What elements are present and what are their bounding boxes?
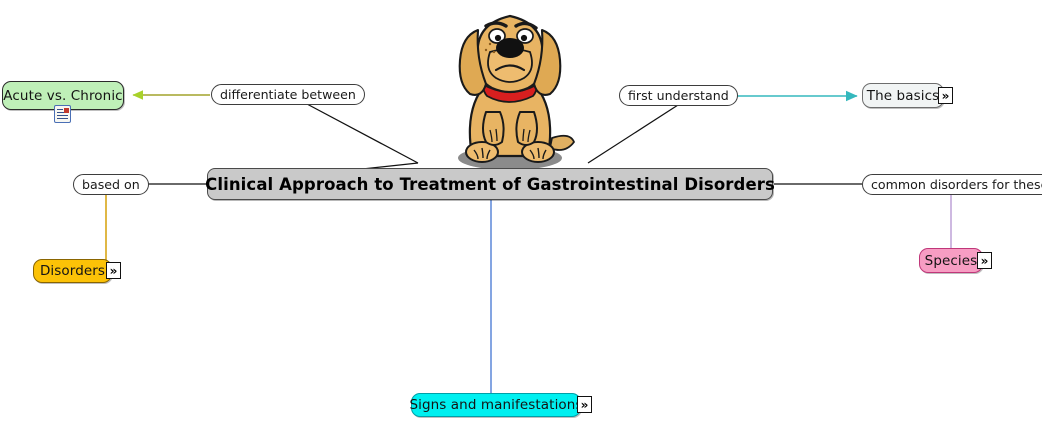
mindmap-canvas: Clinical Approach to Treatment of Gastro… (0, 0, 1042, 422)
edge-label-based-on[interactable]: based on (73, 174, 149, 195)
chevron-double-right-icon: » (981, 255, 989, 267)
edge-label-differentiate-between[interactable]: differentiate between (211, 84, 365, 105)
node-signs-and-manifestations[interactable]: Signs and manifestations (411, 393, 581, 417)
edge-label-text: based on (82, 177, 140, 192)
root-node-label: Clinical Approach to Treatment of Gastro… (205, 175, 775, 194)
edge-root-to-first-understand (588, 105, 678, 163)
node-the-basics-label: The basics (867, 88, 939, 104)
node-disorders-label: Disorders (40, 263, 105, 279)
edge-label-common-disorders-for-these[interactable]: common disorders for these (862, 174, 1042, 195)
node-disorders[interactable]: Disorders (33, 259, 112, 283)
edge-label-first-understand[interactable]: first understand (619, 85, 738, 106)
root-node[interactable]: Clinical Approach to Treatment of Gastro… (207, 168, 773, 200)
node-signs-and-manifestations-label: Signs and manifestations (409, 397, 582, 413)
expander-disorders[interactable]: » (106, 262, 121, 279)
expander-the-basics[interactable]: » (938, 87, 953, 104)
node-species-label: Species (925, 253, 978, 269)
edge-label-text: first understand (628, 88, 729, 103)
expander-signs-and-manifestations[interactable]: » (577, 396, 592, 413)
edge-label-text: common disorders for these (871, 177, 1042, 192)
chevron-double-right-icon: » (942, 90, 950, 102)
expander-species[interactable]: » (977, 252, 992, 269)
node-species[interactable]: Species (919, 248, 983, 273)
note-icon[interactable] (54, 105, 71, 123)
node-the-basics[interactable]: The basics (862, 83, 944, 108)
chevron-double-right-icon: » (110, 265, 118, 277)
chevron-double-right-icon: » (581, 399, 589, 411)
edge-label-text: differentiate between (220, 87, 356, 102)
edge-differentiate-diagonal (307, 104, 418, 163)
node-acute-vs-chronic-label: Acute vs. Chronic (3, 88, 122, 104)
sad-dog-illustration (424, 0, 596, 172)
